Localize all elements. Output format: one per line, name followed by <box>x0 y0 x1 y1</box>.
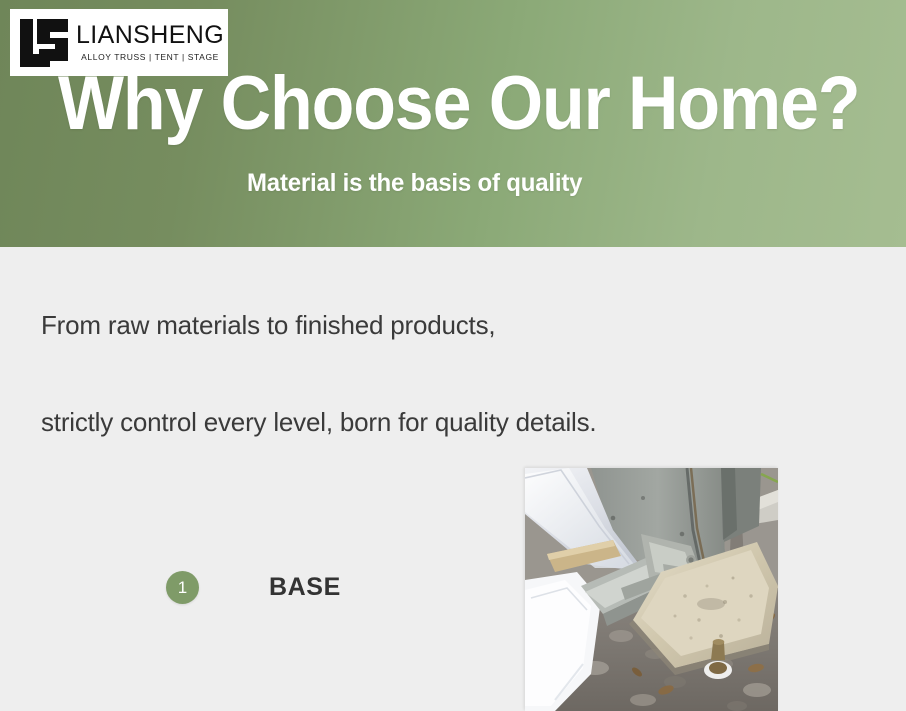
ls-monogram-icon <box>18 17 70 69</box>
item-number-badge: 1 <box>166 571 199 604</box>
item-label-base: BASE <box>269 573 341 602</box>
page-subtitle: Material is the basis of quality <box>247 168 582 198</box>
brand-wordmark: LIANSHENG <box>76 23 224 48</box>
body-text-line-1: From raw materials to finished products, <box>41 309 495 341</box>
body-text-line-2: strictly control every level, born for q… <box>41 406 596 438</box>
tent-base-plate-photo <box>525 468 778 711</box>
brand-tagline: ALLOY TRUSS | TENT | STAGE <box>81 52 219 62</box>
brand-text: LIANSHENG ALLOY TRUSS | TENT | STAGE <box>76 23 224 62</box>
slide-canvas: Why Choose Our Home? Material is the bas… <box>0 0 906 711</box>
brand-logo: LIANSHENG ALLOY TRUSS | TENT | STAGE <box>10 9 228 76</box>
list-item: 1 BASE <box>166 571 341 604</box>
